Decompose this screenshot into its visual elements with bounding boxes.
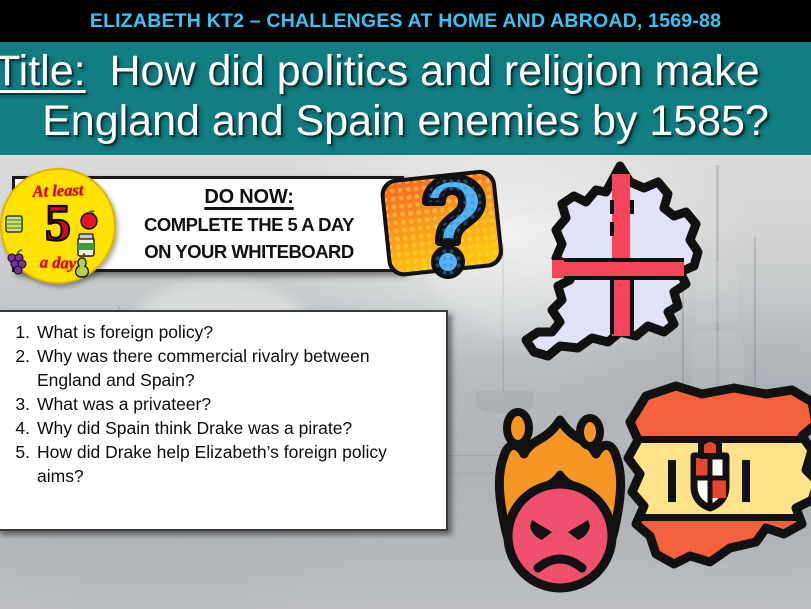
- angry-fire-face-icon: [470, 398, 650, 609]
- list-item-text: What was a privateer?: [37, 394, 211, 414]
- do-now-instruction-line-1: COMPLETE THE 5 A DAY: [144, 214, 354, 236]
- list-item: 3. What was a privateer?: [2, 393, 436, 416]
- five-a-day-badge: At least 5 a day: [0, 168, 116, 284]
- question-mark-graphic: [376, 166, 510, 284]
- title-text-line-1: How did politics and religion make: [110, 47, 760, 95]
- grapes-icon: [4, 248, 30, 276]
- title-text-line-2: England and Spain enemies by 1585?: [0, 100, 811, 143]
- do-now-instruction-line-2: ON YOUR WHITEBOARD: [144, 241, 354, 263]
- topic-header-label: ELIZABETH KT2 – CHALLENGES AT HOME AND A…: [90, 10, 721, 33]
- topic-header-bar: ELIZABETH KT2 – CHALLENGES AT HOME AND A…: [0, 0, 811, 42]
- england-map-icon: [508, 160, 748, 380]
- list-item-number: 4.: [2, 417, 30, 440]
- angry-fire-face-graphic: [470, 398, 650, 609]
- title-label: Title:: [0, 47, 86, 95]
- broccoli-icon: [2, 210, 26, 236]
- england-map-graphic: [508, 160, 748, 380]
- pear-icon: [70, 252, 94, 280]
- title-line-one: Title: How did politics and religion mak…: [0, 50, 760, 93]
- list-item-text: How did Drake help Elizabeth’s foreign p…: [37, 442, 387, 485]
- list-item: 4. Why did Spain think Drake was a pirat…: [2, 417, 436, 440]
- slide-root: DO NOW: COMPLETE THE 5 A DAY ON YOUR WHI…: [0, 0, 811, 609]
- list-item: 1. What is foreign policy?: [2, 321, 436, 344]
- questions-box: 1. What is foreign policy? 2. Why was th…: [0, 310, 448, 531]
- list-item: 5. How did Drake help Elizabeth’s foreig…: [2, 441, 436, 488]
- list-item-number: 5.: [2, 441, 30, 464]
- list-item-text: Why was there commercial rivalry between…: [37, 346, 370, 389]
- do-now-heading: DO NOW:: [204, 186, 293, 209]
- list-item: 2. Why was there commercial rivalry betw…: [2, 345, 436, 392]
- list-item-number: 2.: [2, 345, 30, 368]
- questions-list: 1. What is foreign policy? 2. Why was th…: [2, 321, 436, 488]
- list-item-number: 3.: [2, 393, 30, 416]
- list-item-number: 1.: [2, 321, 30, 344]
- question-mark-icon: [376, 166, 510, 284]
- list-item-text: What is foreign policy?: [37, 322, 213, 342]
- list-item-text: Why did Spain think Drake was a pirate?: [37, 418, 352, 438]
- apple-icon: [78, 208, 100, 230]
- title-band: Title: How did politics and religion mak…: [0, 42, 811, 155]
